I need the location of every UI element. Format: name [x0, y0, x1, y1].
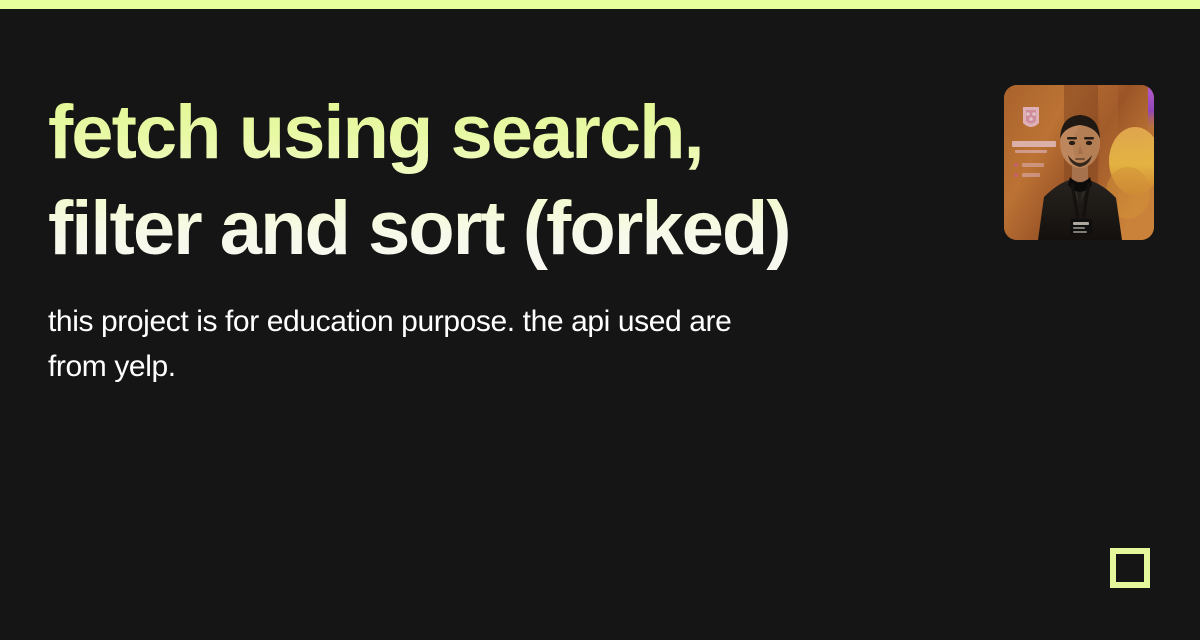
avatar-photo [1004, 85, 1154, 240]
page-description: this project is for education purpose. t… [48, 299, 778, 389]
avatar [1004, 85, 1154, 240]
card-content: fetch using search, filter and sort (for… [48, 85, 848, 389]
og-preview-card: fetch using search, filter and sort (for… [0, 0, 1200, 640]
codesandbox-square-mark-icon [1110, 548, 1150, 588]
top-accent-bar [0, 0, 1200, 9]
page-title: fetch using search, filter and sort (for… [48, 85, 848, 277]
